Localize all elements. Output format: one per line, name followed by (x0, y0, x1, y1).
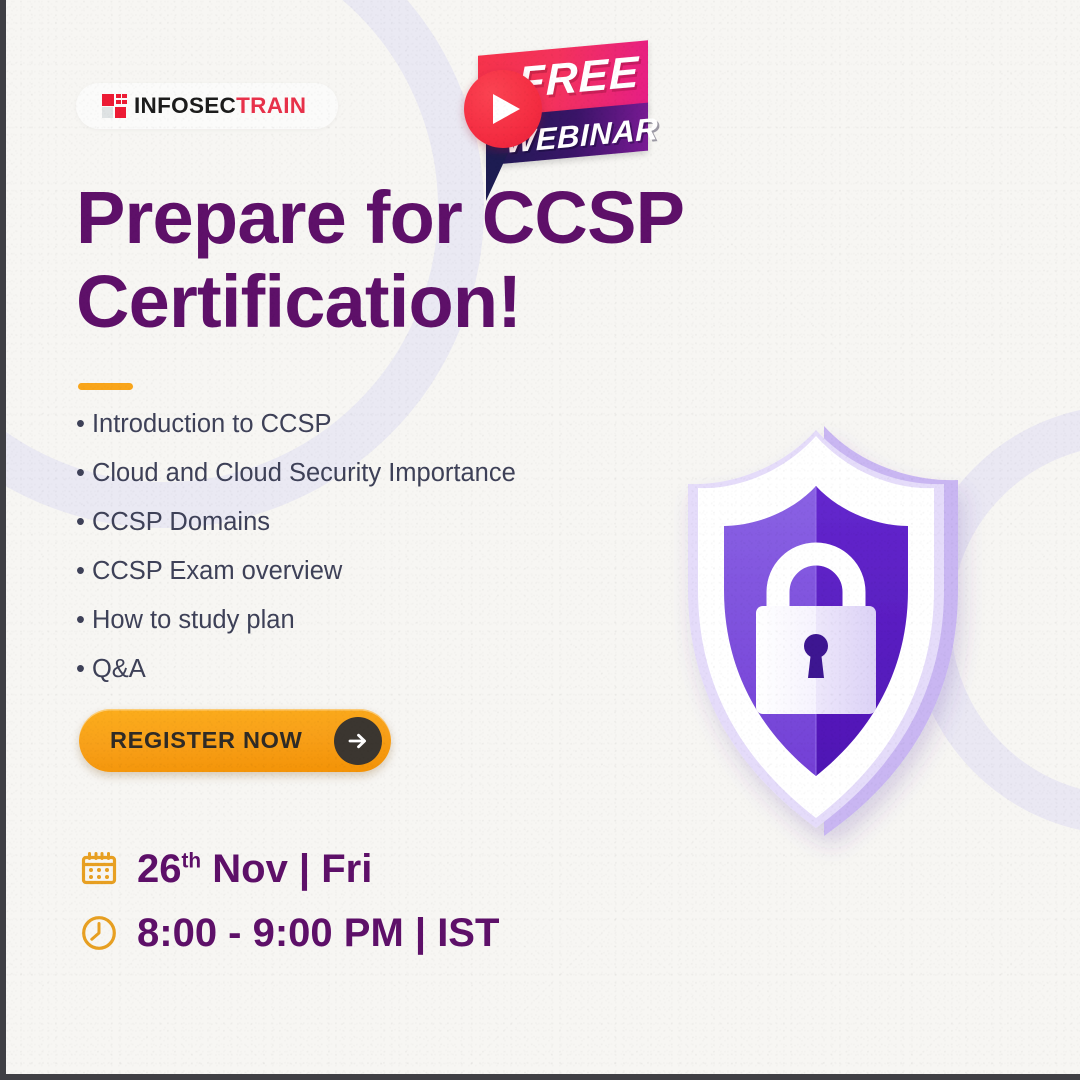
schedule-time-row: 8:00 - 9:00 PM | IST (78, 912, 499, 954)
list-item-label: CCSP Domains (92, 508, 270, 536)
schedule-date-day: 26 (137, 847, 182, 891)
list-item: •Introduction to CCSP (76, 412, 636, 438)
agenda-list: •Introduction to CCSP •Cloud and Cloud S… (76, 412, 636, 706)
register-now-button[interactable]: REGISTER NOW (79, 709, 391, 772)
play-triangle-icon (464, 70, 542, 148)
logo-word-infosec: INFOSEC (134, 93, 236, 118)
schedule-date-ordinal: th (182, 850, 202, 873)
list-item: •Cloud and Cloud Security Importance (76, 461, 636, 487)
arrow-right-icon[interactable] (334, 717, 382, 765)
infosectrain-logo[interactable]: INFOSECTRAIN (76, 83, 338, 129)
page-title-line-2: Certification! (76, 260, 736, 344)
list-item: •Q&A (76, 657, 636, 683)
schedule-block: 26th Nov | Fri 8:00 - 9:00 PM | IST (78, 848, 499, 976)
bullet-glyph: • (76, 508, 85, 536)
free-webinar-badge: FREE WEBINAR (458, 42, 648, 182)
list-item: •CCSP Exam overview (76, 559, 636, 585)
page-title-line-1: Prepare for CCSP (76, 176, 736, 260)
register-now-label: REGISTER NOW (110, 729, 303, 753)
shield-with-padlock (628, 420, 988, 850)
bullet-glyph: • (76, 655, 85, 683)
schedule-date-row: 26th Nov | Fri (78, 848, 499, 890)
accent-divider (78, 383, 133, 390)
logo-word-train: TRAIN (236, 93, 306, 118)
list-item: •How to study plan (76, 608, 636, 634)
list-item-label: How to study plan (92, 606, 295, 634)
bullet-glyph: • (76, 459, 85, 487)
badge-speech-tail (486, 153, 508, 201)
list-item-label: Q&A (92, 655, 146, 683)
bullet-glyph: • (76, 606, 85, 634)
list-item-label: Introduction to CCSP (92, 410, 332, 438)
pixel-grid-icon (102, 94, 127, 119)
bullet-glyph: • (76, 557, 85, 585)
list-item-label: CCSP Exam overview (92, 557, 342, 585)
list-item-label: Cloud and Cloud Security Importance (92, 459, 516, 487)
list-item: •CCSP Domains (76, 510, 636, 536)
schedule-date-rest: Nov | Fri (201, 847, 372, 891)
clock-icon (78, 912, 120, 954)
calendar-icon (78, 848, 120, 890)
schedule-time-text: 8:00 - 9:00 PM | IST (137, 913, 499, 953)
schedule-date-text: 26th Nov | Fri (137, 849, 372, 889)
page-title: Prepare for CCSP Certification! (76, 176, 736, 345)
webinar-promo-poster: INFOSECTRAIN FREE WEBINAR Prepare for CC… (0, 0, 1080, 1080)
bullet-glyph: • (76, 410, 85, 438)
logo-wordmark: INFOSECTRAIN (134, 95, 306, 118)
